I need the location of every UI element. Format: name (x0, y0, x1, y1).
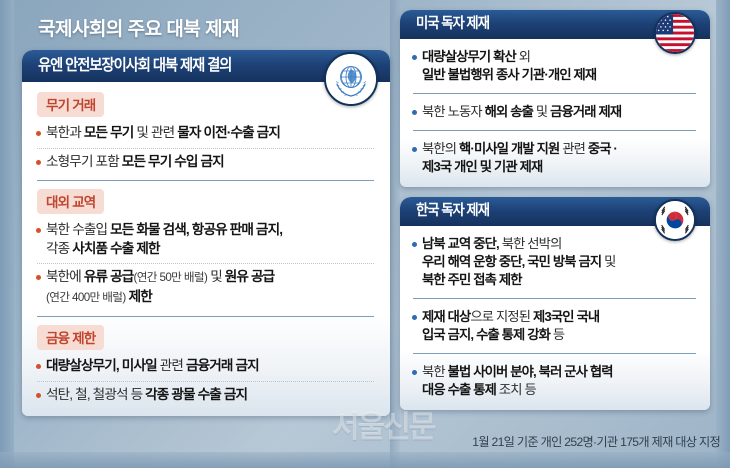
section-label: 무기 거래 (37, 92, 104, 117)
us-panel-title: 미국 독자 제재 (416, 15, 674, 33)
item-separator (413, 93, 696, 94)
us-sanctions-panel: 미국 독자 제재 (400, 10, 710, 187)
kr-panel-title: 한국 독자 제재 (416, 202, 674, 220)
right-rail (716, 0, 730, 468)
list-item: 대량살상무기 확산 외일반 불법행위 종사 기관·개인 제재 (409, 45, 700, 88)
kr-flag-icon (654, 199, 696, 241)
footer-note: 1월 21일 기준 개인 252명·기관 175개 제재 대상 지정 (472, 432, 720, 450)
right-column: 미국 독자 제재 (400, 10, 710, 420)
bullet-dot-icon (36, 131, 41, 136)
center-divider (390, 0, 400, 468)
list-item-text: 남북 교역 중단, 북한 선박의우리 해역 운항 중단, 국민 방북 금지 및북… (422, 235, 616, 289)
item-separator (413, 353, 696, 354)
list-item: 북한과 모든 무기 및 관련 물자 이전·수출 금지 (33, 121, 378, 147)
bullet-dot-icon (412, 110, 417, 115)
bullet-dot-icon (36, 228, 41, 233)
list-item: 북한 노동자 해외 송출 및 금융거래 제재 (409, 100, 700, 125)
un-section-trade: 대외 교역 북한 수출입 모든 화물 검색, 항공유 판매 금지,각종 사치품 … (33, 187, 378, 311)
bullet-dot-icon (36, 275, 41, 280)
list-item-text: 북한과 모든 무기 및 관련 물자 이전·수출 금지 (46, 124, 280, 143)
un-panel-body: 무기 거래 북한과 모든 무기 및 관련 물자 이전·수출 금지 소형무기 포함… (22, 82, 390, 416)
item-separator (413, 298, 696, 299)
list-item: 소형무기 포함 모든 무기 수입 금지 (33, 150, 378, 176)
item-separator (413, 130, 696, 131)
bullet-dot-icon (412, 55, 417, 60)
section-label: 금융 제한 (37, 325, 104, 350)
list-item: 북한에 유류 공급(연간 50만 배럴) 및 원유 공급(연간 400만 배럴)… (33, 265, 378, 311)
un-section-finance: 금융 제한 대량살상무기, 미사일 관련 금융거래 금지 석탄, 철, 철광석 … (33, 323, 378, 408)
list-item-text: 대량살상무기 확산 외일반 불법행위 종사 기관·개인 제재 (422, 48, 596, 84)
us-flag-icon (654, 12, 696, 54)
us-panel-body: 대량살상무기 확산 외일반 불법행위 종사 기관·개인 제재 북한 노동자 해외… (400, 39, 710, 187)
list-item-text: 석탄, 철, 철광석 등 각종 광물 수출 금지 (46, 386, 247, 405)
item-separator (37, 263, 374, 264)
list-item: 북한 수출입 모든 화물 검색, 항공유 판매 금지,각종 사치품 수출 제한 (33, 218, 378, 262)
list-item: 북한 불법 사이버 분야, 북러 군사 협력대응 수출 통제 조치 등 (409, 360, 700, 403)
un-panel-title: 유엔 안전보장이사회 대북 제재 결의 (38, 57, 349, 75)
section-separator (37, 180, 374, 181)
list-item-text: 북한 불법 사이버 분야, 북러 군사 협력대응 수출 통제 조치 등 (422, 363, 613, 399)
list-item-text: 소형무기 포함 모든 무기 수입 금지 (46, 153, 224, 172)
list-item-text: 북한 노동자 해외 송출 및 금융거래 제재 (422, 103, 621, 121)
bottom-band (0, 452, 730, 468)
kr-panel-body: 남북 교역 중단, 북한 선박의우리 해역 운항 중단, 국민 방북 금지 및북… (400, 226, 710, 410)
list-item-text: 북한 수출입 모든 화물 검색, 항공유 판매 금지,각종 사치품 수출 제한 (46, 221, 282, 258)
page-title: 국제사회의 주요 대북 제재 (22, 6, 390, 50)
un-emblem-icon (324, 52, 378, 106)
item-separator (37, 381, 374, 382)
left-column: 국제사회의 주요 대북 제재 유엔 안전보장이사회 대북 제재 결의 (22, 6, 390, 440)
bullet-dot-icon (36, 364, 41, 369)
list-item-text: 대량살상무기, 미사일 관련 금융거래 금지 (46, 357, 259, 376)
kr-sanctions-panel: 한국 독자 제재 (400, 197, 710, 410)
bullet-dot-icon (412, 147, 417, 152)
item-separator (37, 148, 374, 149)
list-item: 북한의 핵·미사일 개발 지원 관련 중국 ·제3국 개인 및 기관 제재 (409, 137, 700, 180)
bullet-dot-icon (36, 393, 41, 398)
bullet-dot-icon (36, 160, 41, 165)
left-rail (0, 0, 14, 468)
un-sanctions-panel: 유엔 안전보장이사회 대북 제재 결의 (22, 50, 390, 416)
list-item: 대량살상무기, 미사일 관련 금융거래 금지 (33, 354, 378, 380)
section-separator (37, 316, 374, 317)
list-item-text: 북한의 핵·미사일 개발 지원 관련 중국 ·제3국 개인 및 기관 제재 (422, 140, 617, 176)
un-section-weapons: 무기 거래 북한과 모든 무기 및 관련 물자 이전·수출 금지 소형무기 포함… (33, 90, 378, 175)
infographic-canvas: 국제사회의 주요 대북 제재 유엔 안전보장이사회 대북 제재 결의 (0, 0, 730, 468)
list-item-text: 제재 대상으로 지정된 제3국인 국내입국 금지, 수출 통제 강화 등 (422, 308, 599, 344)
bullet-dot-icon (412, 370, 417, 375)
bullet-dot-icon (412, 242, 417, 247)
section-label: 대외 교역 (37, 189, 104, 214)
list-item: 제재 대상으로 지정된 제3국인 국내입국 금지, 수출 통제 강화 등 (409, 305, 700, 348)
list-item: 남북 교역 중단, 북한 선박의우리 해역 운항 중단, 국민 방북 금지 및북… (409, 232, 700, 293)
bullet-dot-icon (412, 315, 417, 320)
list-item-text: 북한에 유류 공급(연간 50만 배럴) 및 원유 공급(연간 400만 배럴)… (46, 268, 274, 307)
list-item: 석탄, 철, 철광석 등 각종 광물 수출 금지 (33, 383, 378, 409)
